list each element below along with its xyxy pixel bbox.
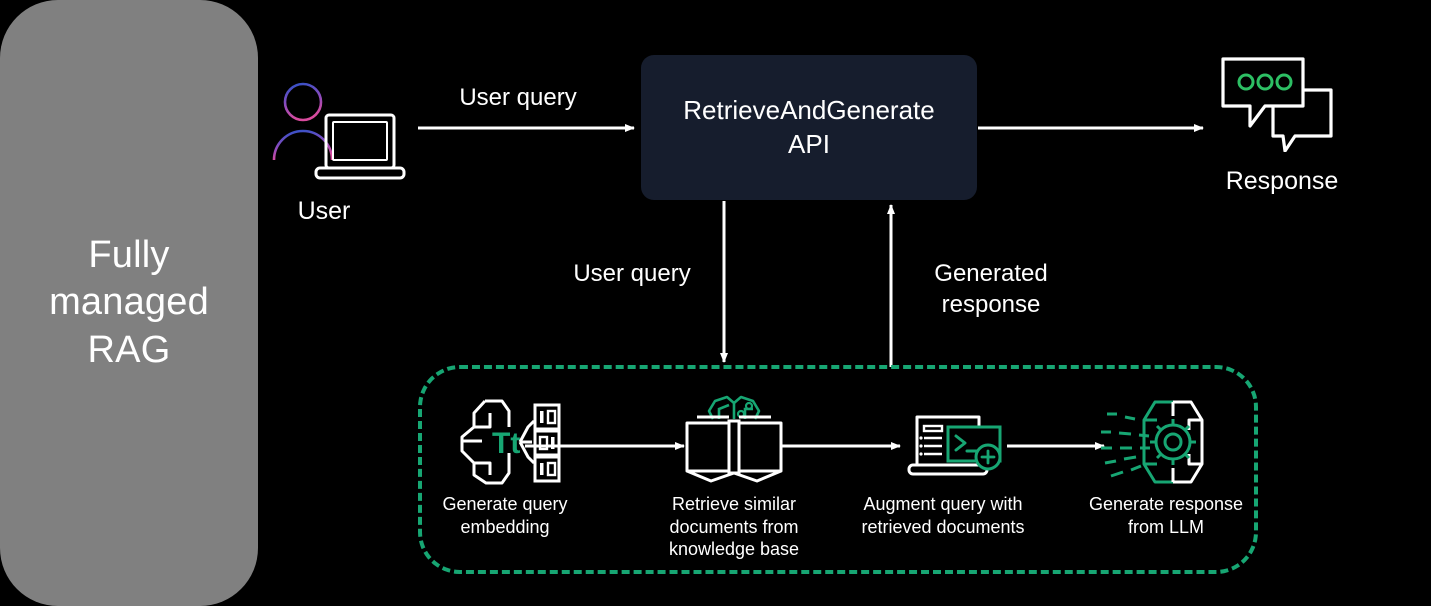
svg-text:Tt: Tt [492, 427, 520, 460]
retrieve-and-generate-api-box[interactable]: RetrieveAndGenerate API [641, 55, 977, 200]
step-label-generate-response-llm: Generate response from LLM [1068, 493, 1264, 538]
edge-label-user-query-top: User query [408, 82, 628, 113]
edge-label-generated-response: Generated response [898, 258, 1084, 320]
step-label-retrieve-similar-documents: Retrieve similar documents from knowledg… [648, 493, 820, 561]
edge-label-user-query-down: User query [552, 258, 712, 289]
user-label: User [240, 196, 408, 227]
user-with-laptop-icon [270, 75, 410, 185]
open-book-brain-icon [683, 389, 785, 487]
response-label: Response [1196, 166, 1368, 197]
text-to-vector-icon: Tt [452, 393, 568, 489]
llm-gear-hexagon-icon [1099, 396, 1233, 488]
api-box-label: RetrieveAndGenerate API [683, 94, 934, 162]
side-panel-title: Fully managed RAG [49, 232, 209, 375]
speech-bubbles-icon [1215, 52, 1347, 152]
fully-managed-rag-panel: Fully managed RAG [0, 0, 258, 606]
step-label-augment-query: Augment query with retrieved documents [845, 493, 1041, 538]
step-label-generate-query-embedding: Generate query embedding [405, 493, 605, 538]
diagram-canvas: Fully managed RAG [0, 0, 1431, 606]
laptop-terminal-plus-icon [903, 407, 1009, 485]
